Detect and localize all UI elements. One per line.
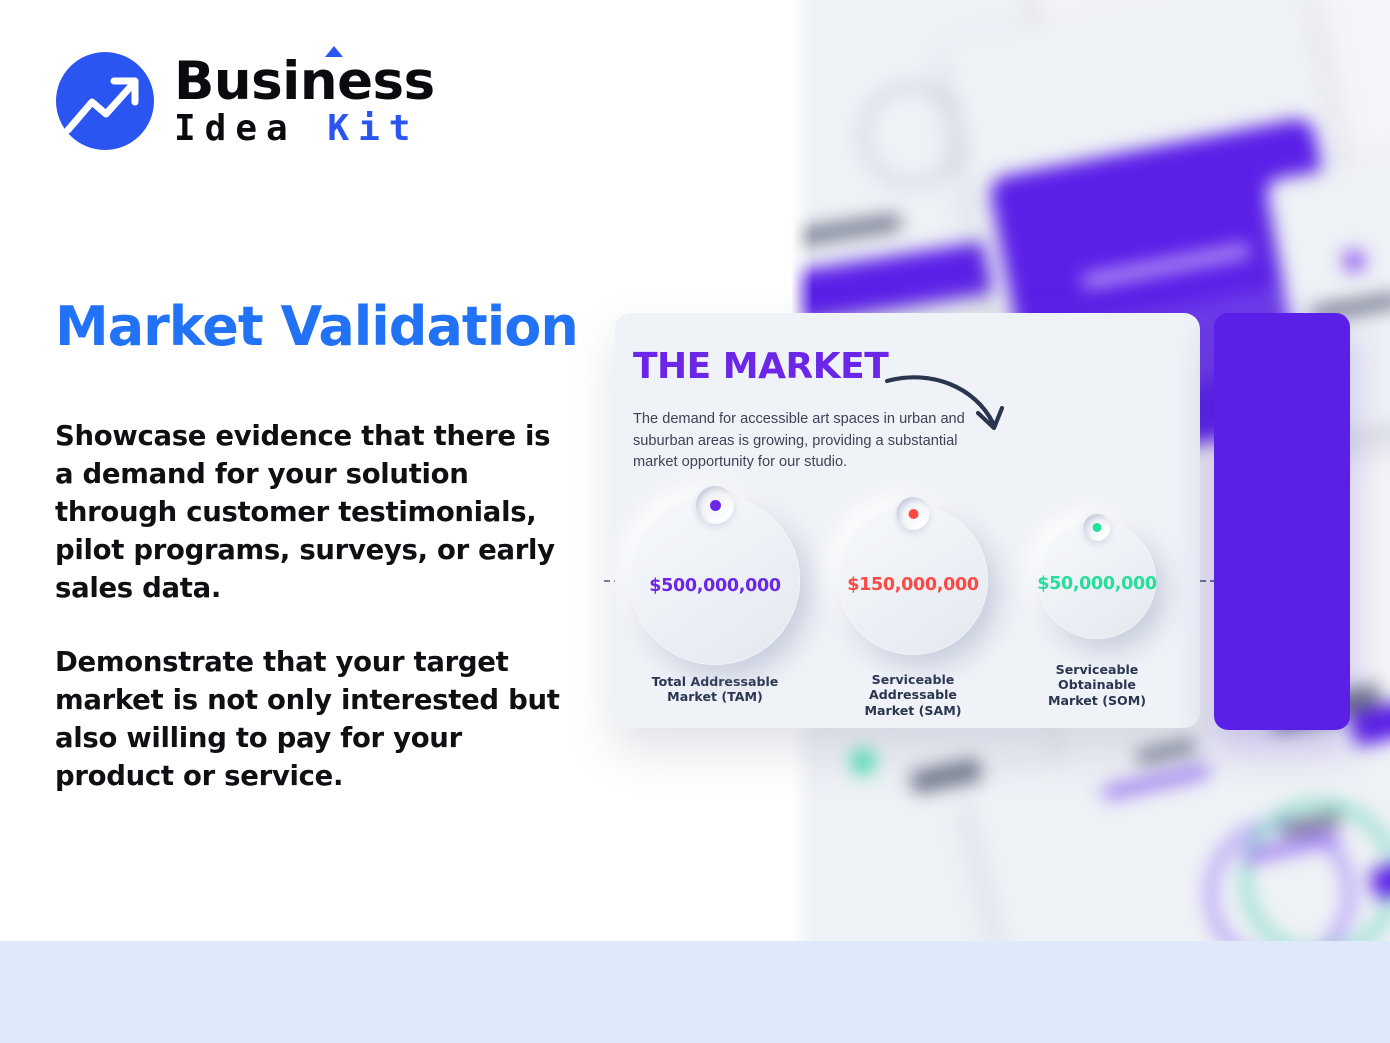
som-knob bbox=[1084, 514, 1111, 541]
photo-dot-shape bbox=[851, 750, 875, 774]
brand-circumflex-accent-icon bbox=[325, 46, 343, 57]
trend-arrow-circle-icon bbox=[56, 52, 154, 150]
photo-dot-shape bbox=[1343, 250, 1365, 272]
brand-name-line1-text: Business bbox=[174, 51, 435, 112]
tam-label: Total Addressable Market (TAM) bbox=[652, 674, 779, 705]
brand-name-line2: Idea Kit bbox=[174, 111, 435, 147]
brand-wordmark: Business Idea Kit bbox=[174, 55, 435, 147]
tam-value: $500,000,000 bbox=[649, 576, 780, 596]
brand-name-line1: Business bbox=[174, 57, 435, 107]
page-title: Market Validation bbox=[55, 295, 578, 358]
market-circle-sam[interactable]: $150,000,000 Serviceable Addressable Mar… bbox=[838, 505, 988, 718]
som-status-dot-icon bbox=[1093, 523, 1102, 532]
tam-status-dot-icon bbox=[710, 500, 721, 511]
market-circle-som[interactable]: $50,000,000 Serviceable Obtainable Marke… bbox=[1038, 521, 1156, 708]
som-circle-shape: $50,000,000 bbox=[1038, 521, 1156, 639]
sam-status-dot-icon bbox=[908, 509, 918, 519]
card-title: THE MARKET bbox=[633, 346, 888, 387]
bottom-color-band bbox=[0, 941, 1390, 1043]
brand-logo: Business Idea Kit bbox=[56, 52, 435, 150]
body-paragraph-1: Showcase evidence that there is a demand… bbox=[55, 418, 575, 608]
page-body-copy: Showcase evidence that there is a demand… bbox=[55, 418, 575, 831]
photo-donut-shape bbox=[859, 82, 965, 188]
slide-canvas: Business Idea Kit Market Validation Show… bbox=[0, 0, 1390, 1043]
tam-knob bbox=[696, 486, 734, 524]
som-label: Serviceable Obtainable Market (SOM) bbox=[1038, 662, 1156, 708]
som-value: $50,000,000 bbox=[1037, 574, 1157, 594]
sam-label: Serviceable Addressable Market (SAM) bbox=[838, 672, 988, 718]
sam-value: $150,000,000 bbox=[847, 575, 978, 595]
sam-knob bbox=[897, 497, 930, 530]
brand-name-idea: Idea bbox=[174, 108, 297, 149]
card-accent-side-panel bbox=[1214, 313, 1350, 730]
market-circle-tam[interactable]: $500,000,000 Total Addressable Market (T… bbox=[630, 495, 800, 705]
brand-name-kit: Kit bbox=[327, 108, 419, 149]
body-paragraph-2: Demonstrate that your target market is n… bbox=[55, 644, 575, 796]
curved-arrow-down-right-icon bbox=[883, 361, 1013, 441]
tam-circle-shape: $500,000,000 bbox=[630, 495, 800, 665]
sam-circle-shape: $150,000,000 bbox=[838, 505, 988, 655]
